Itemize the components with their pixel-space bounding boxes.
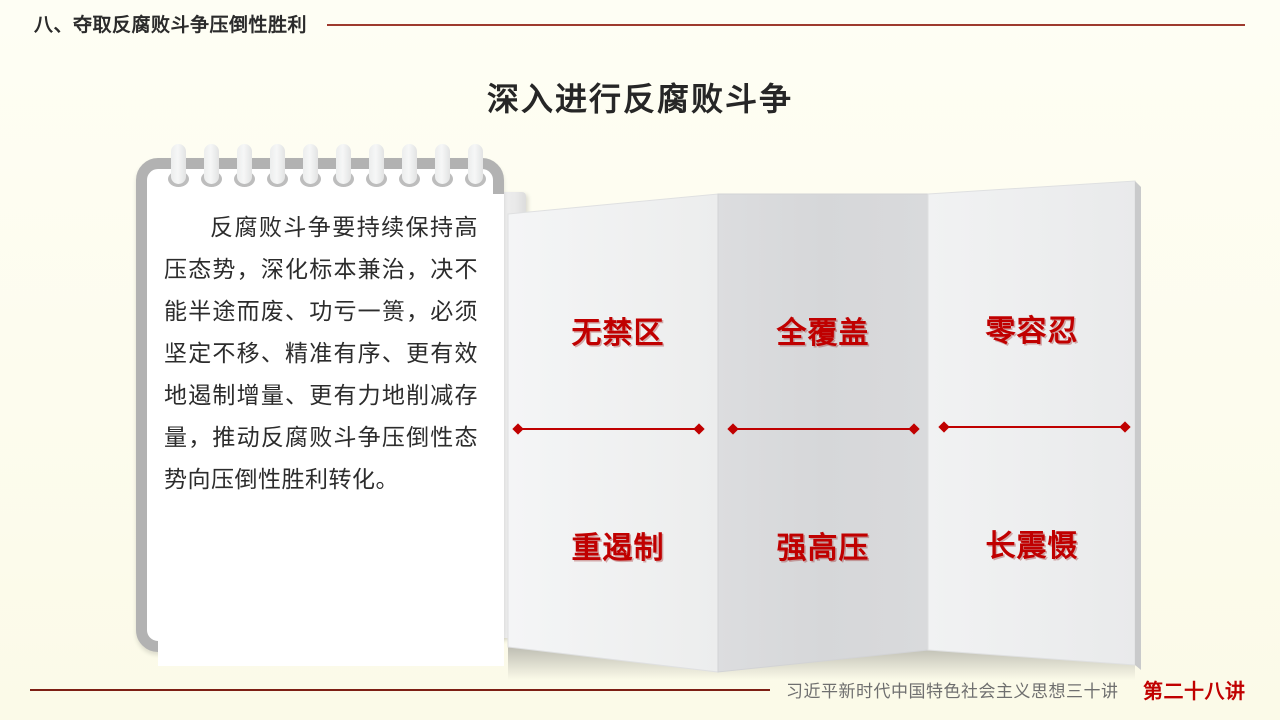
header-divider-rule <box>327 24 1245 26</box>
spiral-ring-bar <box>336 144 351 184</box>
spiral-ring-icon <box>171 144 186 190</box>
spiral-ring-icon <box>435 144 450 190</box>
divider-dot-end-1 <box>693 423 704 434</box>
divider-dot-end-3 <box>1119 421 1130 432</box>
spiral-ring-icon <box>402 144 417 190</box>
spiral-ring-icon <box>369 144 384 190</box>
slide-canvas: 八、夺取反腐败斗争压倒性胜利 深入进行反腐败斗争 反腐败斗争要持续保持高压态势，… <box>0 0 1280 720</box>
panel-right-edge <box>1135 181 1141 670</box>
notepad-spiral-rings <box>162 144 492 196</box>
panel-label-top-3: 零容忍 <box>932 306 1132 350</box>
spiral-ring-bar <box>204 144 219 184</box>
spiral-ring-bar <box>237 144 252 184</box>
spiral-ring-bar <box>435 144 450 184</box>
divider-line-2 <box>733 428 914 430</box>
spiral-ring-bar <box>369 144 384 184</box>
notepad-card: 反腐败斗争要持续保持高压态势，深化标本兼治，决不能半途而废、功亏一篑，必须坚定不… <box>136 144 526 656</box>
folded-panel-group: 无禁区 全覆盖 零容忍 重遏制 强高压 长震慑 <box>495 180 1155 680</box>
panel-divider-2 <box>727 423 920 435</box>
spiral-ring-icon <box>237 144 252 190</box>
panel-divider-1 <box>512 423 705 435</box>
divider-dot-start-1 <box>512 423 523 434</box>
footer-divider-rule <box>30 689 770 691</box>
spiral-ring-bar <box>468 144 483 184</box>
spiral-ring-icon <box>468 144 483 190</box>
spiral-ring-icon <box>336 144 351 190</box>
panel-label-top-1: 无禁区 <box>518 308 718 352</box>
footer-series-title: 习近平新时代中国特色社会主义思想三十讲 <box>786 677 1119 702</box>
spiral-ring-icon <box>303 144 318 190</box>
slide-footer: 习近平新时代中国特色社会主义思想三十讲 第二十八讲 <box>0 672 1280 720</box>
panel-label-bottom-3: 长震慑 <box>932 521 1132 565</box>
panel-label-top-2: 全覆盖 <box>723 308 923 352</box>
spiral-ring-bar <box>303 144 318 184</box>
footer-lecture-number: 第二十八讲 <box>1143 675 1246 704</box>
section-title: 八、夺取反腐败斗争压倒性胜利 <box>34 10 307 37</box>
spiral-ring-icon <box>270 144 285 190</box>
divider-line-3 <box>944 426 1125 428</box>
spiral-ring-bar <box>402 144 417 184</box>
slide-header: 八、夺取反腐败斗争压倒性胜利 <box>0 0 1280 46</box>
page-title: 深入进行反腐败斗争 <box>0 74 1280 120</box>
spiral-ring-bar <box>171 144 186 184</box>
divider-dot-start-3 <box>938 421 949 432</box>
panel-label-bottom-2: 强高压 <box>723 523 923 567</box>
divider-line-1 <box>518 428 699 430</box>
divider-dot-start-2 <box>727 423 738 434</box>
panel-divider-3 <box>938 421 1131 433</box>
spiral-ring-bar <box>270 144 285 184</box>
notepad-body-text: 反腐败斗争要持续保持高压态势，深化标本兼治，决不能半途而废、功亏一篑，必须坚定不… <box>164 206 478 500</box>
divider-dot-end-2 <box>908 423 919 434</box>
panel-label-bottom-1: 重遏制 <box>518 523 718 567</box>
spiral-ring-icon <box>204 144 219 190</box>
